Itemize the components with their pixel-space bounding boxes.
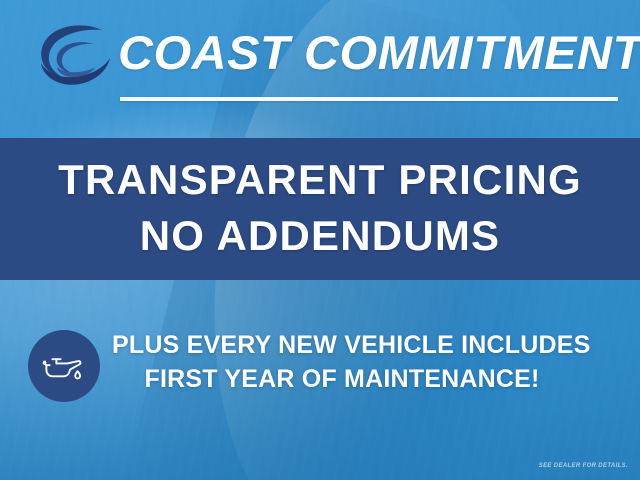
promo-line-1: PLUS EVERY NEW VEHICLE INCLUDES <box>112 328 572 362</box>
promo-row: PLUS EVERY NEW VEHICLE INCLUDES FIRST YE… <box>0 326 640 408</box>
header-divider <box>120 97 618 101</box>
coast-commitment-banner: COAST COMMITMENT TRANSPARENT PRICING NO … <box>0 0 640 480</box>
promo-line-2: FIRST YEAR OF MAINTENANCE! <box>112 362 572 396</box>
disclaimer-text: SEE DEALER FOR DETAILS. <box>539 463 628 469</box>
headline-band: TRANSPARENT PRICING NO ADDENDUMS <box>0 138 640 280</box>
promo-text: PLUS EVERY NEW VEHICLE INCLUDES FIRST YE… <box>112 328 572 396</box>
headline-no-addendums: NO ADDENDUMS <box>0 212 640 260</box>
banner-header: COAST COMMITMENT <box>0 0 640 138</box>
page-title: COAST COMMITMENT <box>118 24 640 82</box>
headline-transparent-pricing: TRANSPARENT PRICING <box>0 156 640 204</box>
coast-wave-logo-icon <box>32 18 118 94</box>
oil-can-icon <box>28 330 100 402</box>
